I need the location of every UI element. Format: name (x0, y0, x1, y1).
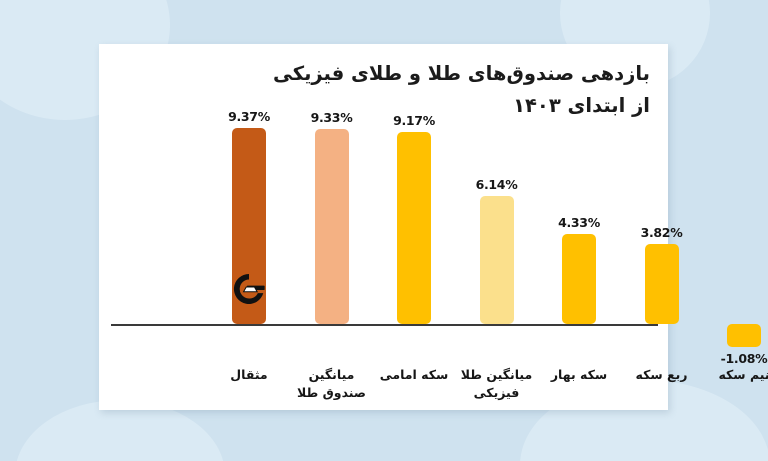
bar-category-label-1: میانگینصندوق طلا (292, 366, 372, 402)
bar-value-label-4: 4.33% (558, 215, 600, 230)
bar-category-label-6: نیم سکه (704, 366, 768, 384)
bar-value-label-1: 9.33% (311, 110, 353, 125)
bar-group-0: 9.37%مثقال (213, 44, 285, 410)
bar-group-2: 9.17%سکه امامی (378, 44, 450, 410)
bar-group-6: -1.08%نیم سکه (708, 44, 768, 410)
bar-chart-plot-area: 9.37%مثقال9.33%میانگینصندوق طلا9.17%سکه … (99, 44, 668, 410)
bar-5[interactable] (645, 244, 679, 324)
bar-value-label-6: -1.08% (721, 351, 768, 366)
bar-group-3: 6.14%میانگین طلافیزیکی (461, 44, 533, 410)
bar-6[interactable] (727, 324, 761, 347)
bar-category-label-2: سکه امامی (374, 366, 454, 384)
bar-category-label-4: سکه بهار (539, 366, 619, 384)
bar-4[interactable] (562, 234, 596, 324)
bar-group-4: 4.33%سکه بهار (543, 44, 615, 410)
bar-2[interactable] (397, 132, 431, 324)
bar-group-1: 9.33%میانگینصندوق طلا (296, 44, 368, 410)
bar-category-label-0: مثقال (209, 366, 289, 384)
bar-group-5: 3.82%ربع سکه (626, 44, 698, 410)
chart-card: بازدهی صندوق‌های طلا و طلای فیزیکی از اب… (99, 44, 668, 410)
bar-category-label-3: میانگین طلافیزیکی (457, 366, 537, 402)
bar-value-label-5: 3.82% (641, 225, 683, 240)
bar-value-label-0: 9.37% (228, 109, 270, 124)
bar-0[interactable] (232, 128, 266, 324)
bar-value-label-3: 6.14% (476, 177, 518, 192)
bar-value-label-2: 9.17% (393, 113, 435, 128)
bar-3[interactable] (480, 196, 514, 324)
bar-1[interactable] (315, 129, 349, 324)
bar-category-label-5: ربع سکه (622, 366, 702, 384)
